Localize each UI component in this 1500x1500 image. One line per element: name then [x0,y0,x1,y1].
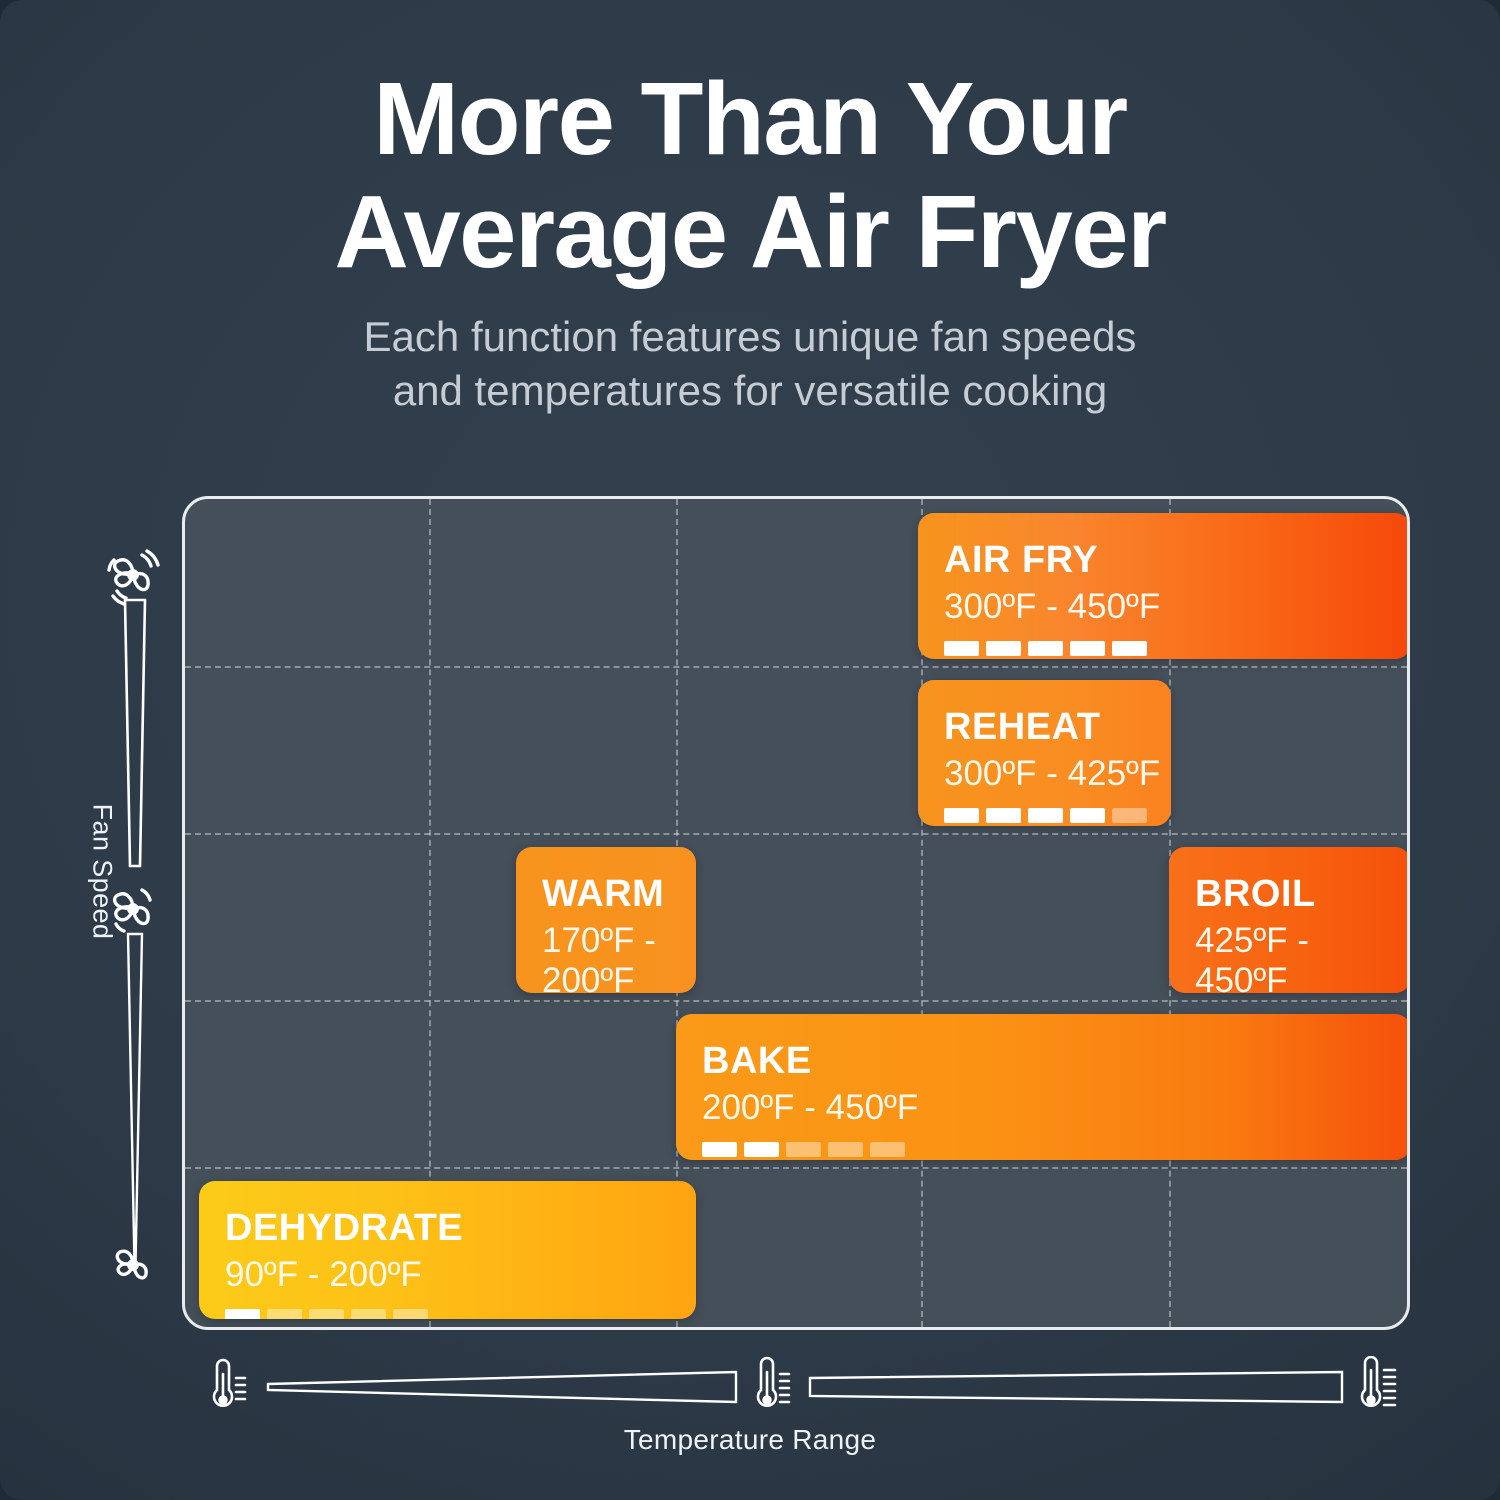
bar-range: 300ºF - 425ºF [944,754,1171,794]
bar-label: WARM [542,873,696,915]
fan-speed-axis: Fan Speed [60,496,180,1330]
gridline-horizontal [185,1167,1407,1169]
page-title: More Than Your Average Air Fryer [0,62,1500,288]
fan-high-icon [102,544,164,606]
segment-filled [944,808,979,823]
fan-speed-wedge-upper [120,598,150,868]
temperature-wedge-high [808,1370,1344,1404]
segment-filled [1112,641,1147,656]
segment-filled [944,641,979,656]
segment-filled [1070,641,1105,656]
gridline-horizontal [185,1000,1407,1002]
segment-filled [702,1142,737,1157]
segment-filled [986,641,1021,656]
bar-label: BROIL [1195,873,1410,915]
segment-empty [786,1142,821,1157]
thermometer-mid-icon [744,1356,796,1414]
segment-filled [986,808,1021,823]
segment-empty [828,1142,863,1157]
thermometer-low-icon [200,1356,252,1414]
bar-warm[interactable]: WARM 170ºF - 200ºF [516,847,696,993]
segment-empty [393,1309,428,1319]
segment-filled [225,1309,260,1319]
temperature-wedge-low [266,1370,738,1404]
chart-panel: AIR FRY 300ºF - 450ºF REHEAT 300ºF - 425… [182,496,1410,1330]
thermometer-high-icon [1352,1356,1404,1414]
segment-empty [1112,808,1147,823]
segment-empty [351,1309,386,1319]
segment-filled [1028,641,1063,656]
segment-empty [309,1309,344,1319]
fan-medium-icon [102,878,164,940]
bar-range: 425ºF - 450ºF [1195,921,1410,993]
bar-label: REHEAT [944,706,1171,748]
gridline-horizontal [185,833,1407,835]
bar-label: AIR FRY [944,539,1410,581]
segment-filled [744,1142,779,1157]
segment-empty [870,1142,905,1157]
fan-speed-segments [702,1142,1410,1157]
segment-filled [1070,808,1105,823]
bar-air-fry[interactable]: AIR FRY 300ºF - 450ºF [918,513,1410,659]
bar-bake[interactable]: BAKE 200ºF - 450ºF [676,1014,1410,1160]
temperature-axis [182,1352,1410,1422]
bar-broil[interactable]: BROIL 425ºF - 450ºF [1169,847,1410,993]
fan-speed-segments [225,1309,696,1319]
gridline-horizontal [185,666,1407,668]
infographic-root: More Than Your Average Air Fryer Each fu… [0,0,1500,1500]
bar-range: 200ºF - 450ºF [702,1088,1410,1128]
bar-label: BAKE [702,1040,1410,1082]
bar-range: 90ºF - 200ºF [225,1255,696,1295]
bar-reheat[interactable]: REHEAT 300ºF - 425ºF [918,680,1171,826]
segment-empty [267,1309,302,1319]
fan-speed-wedge-lower [120,932,150,1262]
bar-range: 170ºF - 200ºF [542,921,696,993]
page-subtitle: Each function features unique fan speeds… [0,310,1500,418]
segment-filled [1028,808,1063,823]
bar-range: 300ºF - 450ºF [944,587,1410,627]
fan-speed-segments [944,641,1410,656]
fan-speed-segments [944,808,1171,823]
bar-label: DEHYDRATE [225,1207,696,1249]
bar-dehydrate[interactable]: DEHYDRATE 90ºF - 200ºF [199,1181,696,1319]
header: More Than Your Average Air Fryer Each fu… [0,62,1500,418]
temperature-axis-label: Temperature Range [0,1424,1500,1456]
